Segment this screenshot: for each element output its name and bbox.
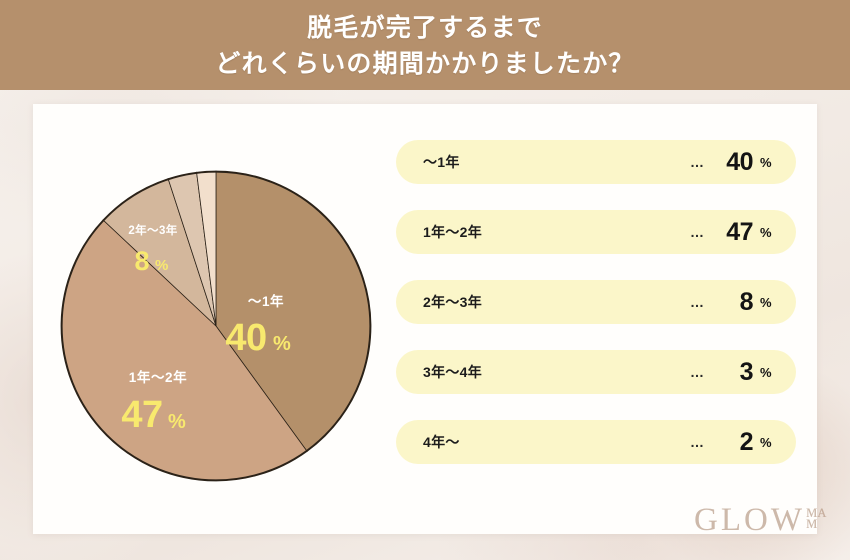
legend-row-3[interactable]: 3年〜4年 … 3 %: [396, 350, 796, 394]
legend-row-2-percent-symbol: %: [760, 295, 774, 310]
slide-canvas: 脱毛が完了するまで どれくらいの期間かかりましたか？ 〜1年 40 %: [0, 0, 850, 560]
brand-logo-monogram-bottom: ᴍ: [806, 516, 826, 529]
legend-row-4-value: 2: [717, 428, 753, 457]
legend-row-2-dots: …: [690, 294, 705, 310]
legend-row-0-label: 〜1年: [423, 152, 460, 172]
brand-logo: GLOW ᴍᴀ ᴍ: [694, 503, 826, 537]
legend-row-3-dots: …: [690, 364, 705, 380]
legend-row-0-percent-symbol: %: [760, 155, 774, 170]
page-title-line-2: どれくらいの期間かかりましたか？: [215, 46, 634, 82]
header-banner: 脱毛が完了するまで どれくらいの期間かかりましたか？: [0, 0, 850, 90]
brand-logo-wordmark: GLOW: [694, 503, 805, 537]
legend-row-1-value: 47: [717, 218, 753, 247]
legend-row-1[interactable]: 1年〜2年 … 47 %: [396, 210, 796, 254]
legend-row-2-value: 8: [717, 288, 753, 317]
page-title-line-1: 脱毛が完了するまで: [307, 10, 543, 46]
legend-row-3-value: 3: [717, 358, 753, 387]
legend-row-4-label: 4年〜: [423, 432, 460, 452]
legend-row-0-value: 40: [717, 148, 753, 177]
legend-row-2[interactable]: 2年〜3年 … 8 %: [396, 280, 796, 324]
legend-row-1-percent-symbol: %: [760, 225, 774, 240]
brand-logo-monogram: ᴍᴀ ᴍ: [806, 505, 826, 529]
legend-row-1-label: 1年〜2年: [423, 222, 482, 242]
legend-row-4-percent-symbol: %: [760, 435, 774, 450]
legend-row-4-dots: …: [690, 434, 705, 450]
legend-row-0[interactable]: 〜1年 … 40 %: [396, 140, 796, 184]
legend-list: 〜1年 … 40 % 1年〜2年 … 47 % 2年〜3年 … 8 %: [396, 140, 796, 464]
legend-row-0-dots: …: [690, 154, 705, 170]
legend-row-3-percent-symbol: %: [760, 365, 774, 380]
legend-row-4[interactable]: 4年〜 … 2 %: [396, 420, 796, 464]
content-card: 〜1年 40 % 1年〜2年 47 % 2年〜3年 8 % 〜1年: [33, 104, 817, 534]
pie-chart: 〜1年 40 % 1年〜2年 47 % 2年〜3年 8 %: [60, 170, 372, 482]
legend-row-1-dots: …: [690, 224, 705, 240]
legend-row-2-label: 2年〜3年: [423, 292, 482, 312]
pie-chart-svg: 〜1年 40 % 1年〜2年 47 % 2年〜3年 8 %: [60, 170, 372, 482]
legend-row-3-label: 3年〜4年: [423, 362, 482, 382]
